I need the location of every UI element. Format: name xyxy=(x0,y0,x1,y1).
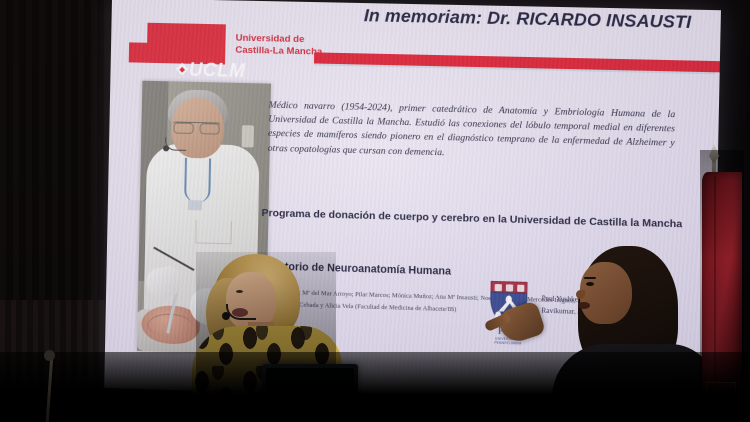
right-presenter-nose xyxy=(576,290,585,299)
right-presenter-mouth xyxy=(578,302,590,309)
stage-foreground xyxy=(0,352,750,422)
university-name: Universidad de Castilla-La Mancha xyxy=(235,33,322,59)
uclm-logo-mark: UCLM xyxy=(188,60,245,83)
university-line-2: Castilla-La Mancha xyxy=(235,45,322,59)
biography-paragraph: Médico navarro (1954-2024), primer cated… xyxy=(268,99,676,166)
uclm-logo-box: UCLM xyxy=(147,23,226,65)
right-presenter-face xyxy=(580,262,632,324)
right-presenter-eye xyxy=(586,282,594,286)
microphone-head-icon xyxy=(44,350,55,361)
slide-title: In memoriam: Dr. RICARDO INSAUSTI xyxy=(343,5,713,34)
right-presenter-brow xyxy=(584,277,596,279)
wall-panel-left xyxy=(0,0,112,330)
program-heading: Programa de donación de cuerpo y cerebro… xyxy=(258,206,685,233)
presentation-scene: UCLM Universidad de Castilla-La Mancha I… xyxy=(0,0,750,422)
diamond-icon xyxy=(176,63,189,76)
